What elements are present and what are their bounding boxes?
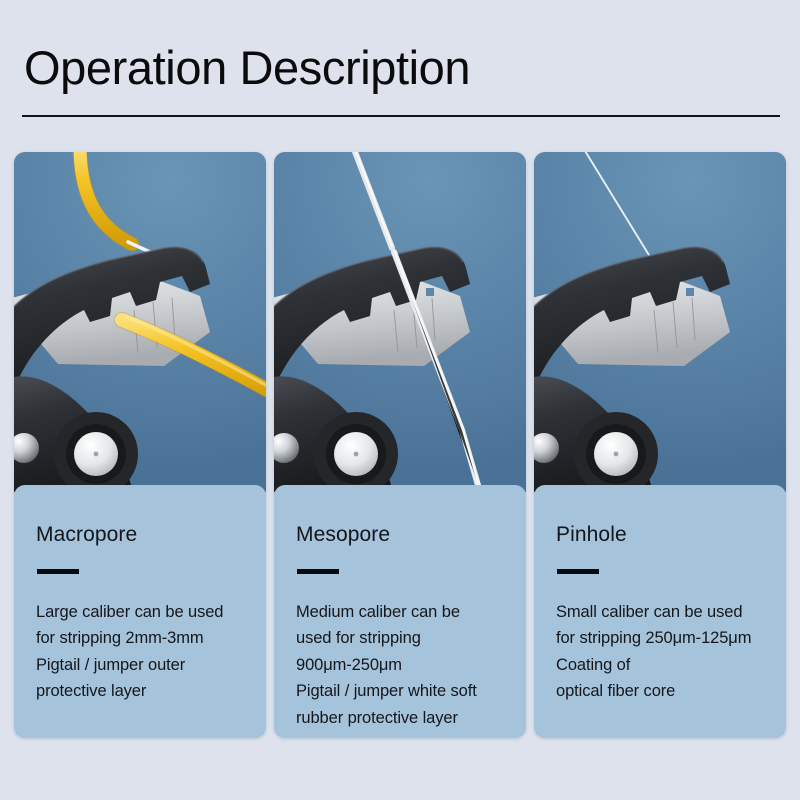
- heading-divider-macropore: [37, 569, 79, 574]
- card-body-macropore: Large caliber can be used for stripping …: [36, 599, 244, 705]
- tool-illustration-pinhole: COMPTYCO VGFS-33: [534, 152, 786, 492]
- photo-pinhole: COMPTYCO VGFS-33: [534, 152, 786, 492]
- photo-macropore: COMPTYCO VGFS-33: [14, 152, 266, 492]
- card-grid: COMPTYCO VGFS-33 Macropore Large caliber…: [14, 152, 786, 738]
- card-heading-macropore: Macropore: [36, 523, 244, 546]
- card-body-mesopore: Medium caliber can be used for stripping…: [296, 599, 504, 731]
- card-macropore[interactable]: COMPTYCO VGFS-33 Macropore Large caliber…: [14, 152, 266, 738]
- page-title: Operation Description: [24, 42, 470, 95]
- panel-macropore: Macropore Large caliber can be used for …: [14, 485, 266, 738]
- body-line: Pigtail / jumper white soft: [296, 678, 504, 704]
- body-line: for stripping 250μm-125μm: [556, 625, 764, 651]
- panel-mesopore: Mesopore Medium caliber can be used for …: [274, 485, 526, 738]
- card-body-pinhole: Small caliber can be used for stripping …: [556, 599, 764, 705]
- infographic-page: Operation Description: [0, 0, 800, 800]
- body-line: Medium caliber can be: [296, 599, 504, 625]
- title-divider-rule: [22, 115, 780, 117]
- body-line: Small caliber can be used: [556, 599, 764, 625]
- card-mesopore[interactable]: COMPTYCO VGFS-33 Mesopore Medium caliber…: [274, 152, 526, 738]
- body-line: used for stripping: [296, 625, 504, 651]
- card-heading-mesopore: Mesopore: [296, 523, 504, 546]
- body-line: for stripping 2mm-3mm: [36, 625, 244, 651]
- photo-mesopore: COMPTYCO VGFS-33: [274, 152, 526, 492]
- tool-illustration-mesopore: COMPTYCO VGFS-33: [274, 152, 526, 492]
- heading-divider-mesopore: [297, 569, 339, 574]
- body-line: 900μm-250μm: [296, 652, 504, 678]
- card-pinhole[interactable]: COMPTYCO VGFS-33 Pinhole Small caliber c…: [534, 152, 786, 738]
- card-heading-pinhole: Pinhole: [556, 523, 764, 546]
- body-line: rubber protective layer: [296, 705, 504, 731]
- body-line: optical fiber core: [556, 678, 764, 704]
- heading-divider-pinhole: [557, 569, 599, 574]
- panel-pinhole: Pinhole Small caliber can be used for st…: [534, 485, 786, 738]
- tool-illustration-macropore: COMPTYCO VGFS-33: [14, 152, 266, 492]
- body-line: Coating of: [556, 652, 764, 678]
- body-line: Pigtail / jumper outer: [36, 652, 244, 678]
- body-line: protective layer: [36, 678, 244, 704]
- body-line: Large caliber can be used: [36, 599, 244, 625]
